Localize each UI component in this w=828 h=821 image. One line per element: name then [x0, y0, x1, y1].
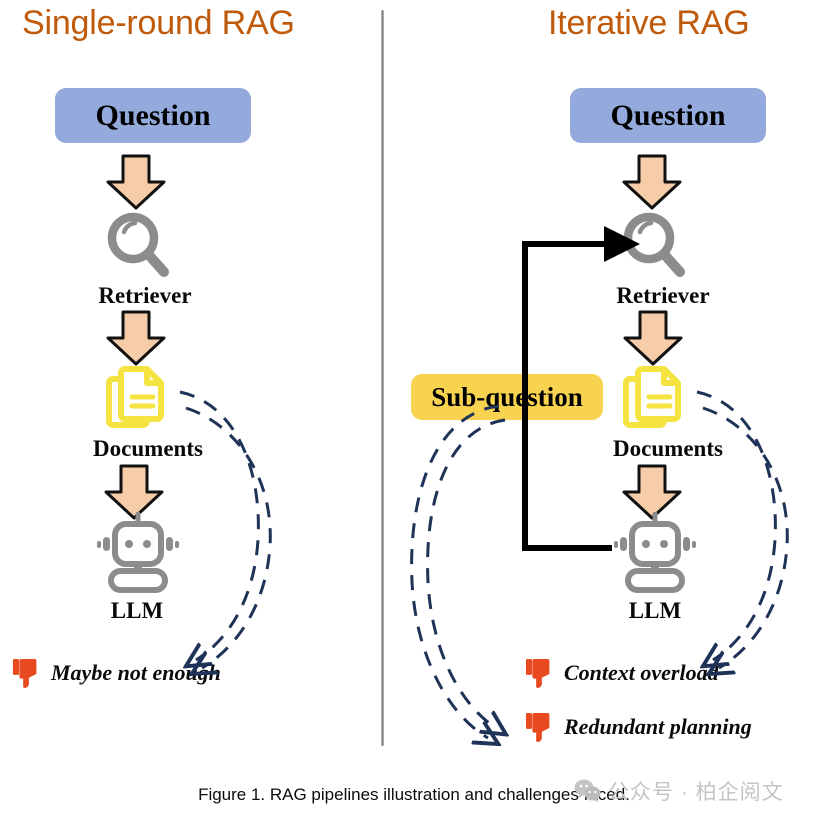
right-issue-row-1: Context overload	[525, 658, 719, 688]
right-robot-icon	[613, 512, 697, 599]
right-documents-icon	[622, 365, 686, 436]
left-retriever-label: Retriever	[98, 283, 191, 309]
left-arrow-retriever-to-documents	[105, 310, 167, 366]
right-magnifier-icon	[619, 208, 689, 285]
wechat-icon	[574, 779, 601, 803]
right-arrow-retriever-to-documents	[622, 310, 684, 366]
left-llm-label: LLM	[111, 598, 163, 624]
column-divider	[381, 10, 384, 746]
left-arrow-question-to-retriever	[105, 154, 167, 210]
left-issue-text: Maybe not enough	[51, 660, 221, 686]
right-documents-feedback-curve	[697, 392, 787, 668]
watermark: 公众号 · 柏企阅文	[574, 776, 784, 806]
left-issue-row: Maybe not enough	[12, 658, 221, 688]
figure-canvas: Single-round RAG Iterative RAG Question …	[0, 0, 828, 821]
left-question-box: Question	[55, 88, 251, 143]
thumbs-down-icon	[525, 712, 555, 742]
right-issue-text-1: Context overload	[564, 660, 719, 686]
subquestion-box: Sub-question	[411, 374, 603, 420]
right-question-box: Question	[570, 88, 766, 143]
right-documents-label: Documents	[613, 436, 723, 462]
right-issue-text-2: Redundant planning	[564, 714, 752, 740]
right-column-title: Iterative RAG	[548, 4, 749, 43]
left-documents-feedback-curve	[180, 392, 270, 668]
left-column-title: Single-round RAG	[22, 4, 295, 43]
right-issue-row-2: Redundant planning	[525, 712, 752, 742]
right-llm-label: LLM	[629, 598, 681, 624]
right-arrow-question-to-retriever	[621, 154, 683, 210]
thumbs-down-icon	[525, 658, 555, 688]
subquestion-feedback-curve	[412, 406, 505, 738]
left-documents-label: Documents	[93, 436, 203, 462]
watermark-text: 公众号 · 柏企阅文	[608, 776, 784, 806]
left-robot-icon	[96, 512, 180, 599]
left-magnifier-icon	[103, 208, 173, 285]
left-documents-icon	[105, 365, 169, 436]
thumbs-down-icon	[12, 658, 42, 688]
right-retriever-label: Retriever	[616, 283, 709, 309]
